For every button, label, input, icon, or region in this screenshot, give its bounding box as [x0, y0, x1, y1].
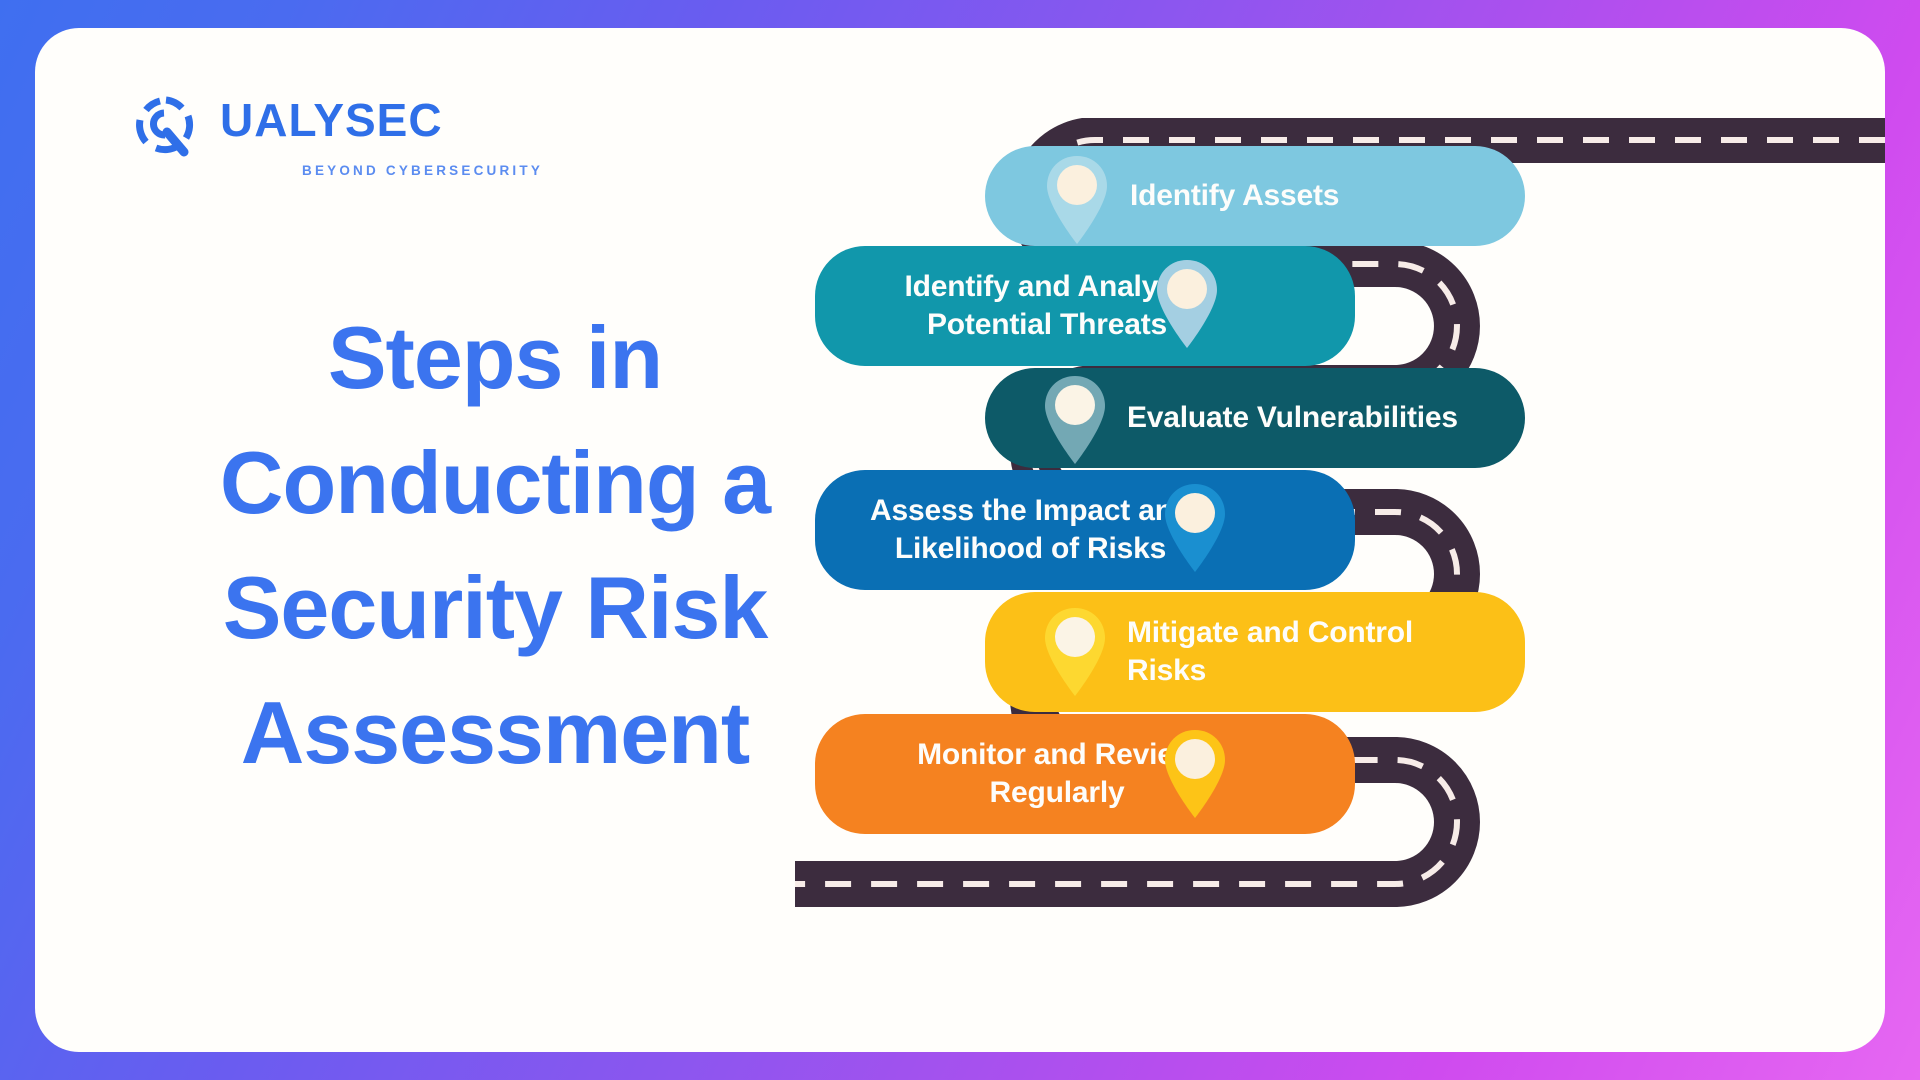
step-banner-4[interactable]: Assess the Impact and Likelihood of Risk…: [815, 470, 1355, 590]
content-card: UALYSEC BEYOND CYBERSECURITY Steps in Co…: [35, 28, 1885, 1052]
page-title: Steps in Conducting a Security Risk Asse…: [135, 296, 855, 796]
brand-wordmark: UALYSEC: [220, 96, 476, 150]
map-pin-icon: [1163, 728, 1227, 820]
step-label-1: Identify Assets: [1130, 177, 1339, 215]
step-banner-6[interactable]: Monitor and Review Regularly: [815, 714, 1355, 834]
title-line-4: Assessment: [135, 671, 855, 796]
step-banner-5[interactable]: Mitigate and Control Risks: [985, 592, 1525, 712]
steps-roadmap: Identify Assets Identify and Analyze Pot…: [795, 118, 1885, 978]
step-banner-3[interactable]: Evaluate Vulnerabilities: [985, 368, 1525, 468]
brand-tagline: BEYOND CYBERSECURITY: [302, 163, 543, 178]
map-pin-icon: [1043, 606, 1107, 698]
map-pin-icon: [1043, 374, 1107, 466]
step-label-4: Assess the Impact and Likelihood of Risk…: [843, 492, 1218, 569]
svg-text:UALYSEC: UALYSEC: [220, 96, 443, 146]
step-banner-1[interactable]: Identify Assets: [985, 146, 1525, 246]
title-line-1: Steps in: [135, 296, 855, 421]
map-pin-icon: [1045, 154, 1109, 246]
title-line-2: Conducting a: [135, 421, 855, 546]
title-line-3: Security Risk: [135, 546, 855, 671]
step-label-3: Evaluate Vulnerabilities: [1127, 399, 1458, 437]
map-pin-icon: [1163, 482, 1227, 574]
step-banner-2[interactable]: Identify and Analyze Potential Threats: [815, 246, 1355, 366]
map-pin-icon: [1155, 258, 1219, 350]
step-label-5: Mitigate and Control Risks: [1127, 614, 1413, 691]
q-target-magnifier-icon: [120, 90, 216, 162]
brand-logo: UALYSEC BEYOND CYBERSECURITY: [120, 90, 470, 182]
